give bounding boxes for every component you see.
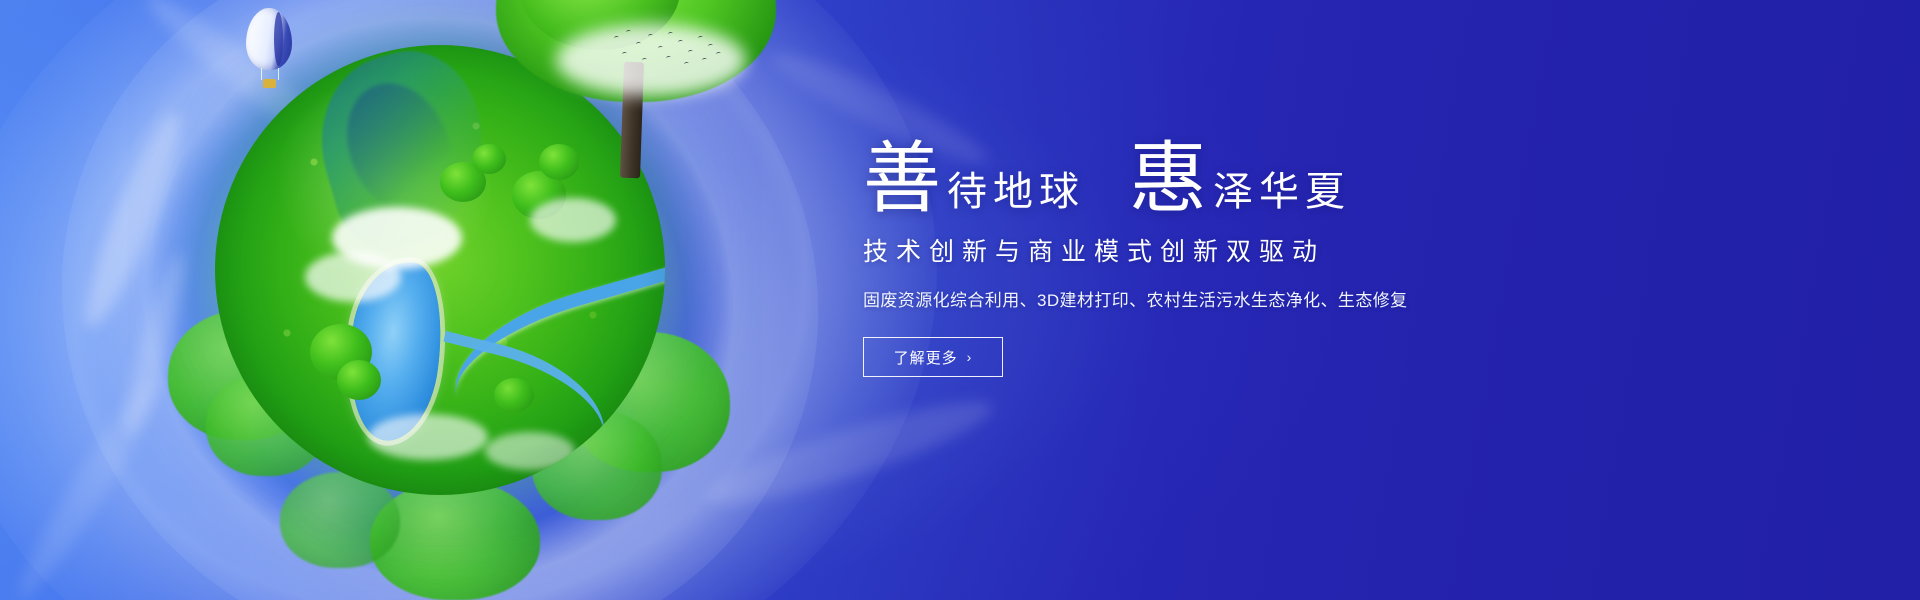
green-planet-illustration [140,0,740,600]
learn-more-label: 了解更多 [894,347,958,368]
headline-char-2: 惠 [1129,140,1207,218]
bush-icon [440,162,486,202]
headline-char-1: 善 [863,140,941,218]
lake-icon [338,256,452,447]
birds-flock-icon [610,28,730,76]
balloon-basket [263,79,276,88]
bush-icon [494,378,534,412]
planet-cloud [305,252,401,302]
balloon-envelope [246,8,292,70]
mountain-ridge [300,45,508,262]
planet-cloud [332,207,462,269]
bush-icon [539,144,579,180]
page-title: 善 待地球 惠 泽华夏 [863,140,1563,218]
description: 固废资源化综合利用、3D建材打印、农村生活污水生态净化、生态修复 [863,286,1563,311]
hero-banner: 善 待地球 惠 泽华夏 技术创新与商业模式创新双驱动 固废资源化综合利用、3D建… [0,0,1920,600]
hot-air-balloon-icon [246,8,292,94]
balloon-stripe [274,12,283,66]
bush-icon [472,144,506,174]
planet-cloud [485,432,575,470]
subtitle: 技术创新与商业模式创新双驱动 [863,232,1563,268]
hero-text-block: 善 待地球 惠 泽华夏 技术创新与商业模式创新双驱动 固废资源化综合利用、3D建… [863,140,1563,377]
planet-cloud [530,198,616,242]
learn-more-button[interactable]: 了解更多 › [863,337,1003,377]
grass-texture [215,45,665,495]
mountain-ridge [328,67,470,229]
river-icon [421,331,620,473]
bush-icon [310,324,372,380]
bush-icon [337,360,381,400]
chevron-right-icon: › [967,349,973,365]
globe-icon [215,45,665,495]
bush-icon [512,171,566,219]
headline-rest-2: 泽华夏 [1213,172,1351,212]
headline-rest-1: 待地球 [947,172,1085,212]
planet-cloud [368,414,488,460]
